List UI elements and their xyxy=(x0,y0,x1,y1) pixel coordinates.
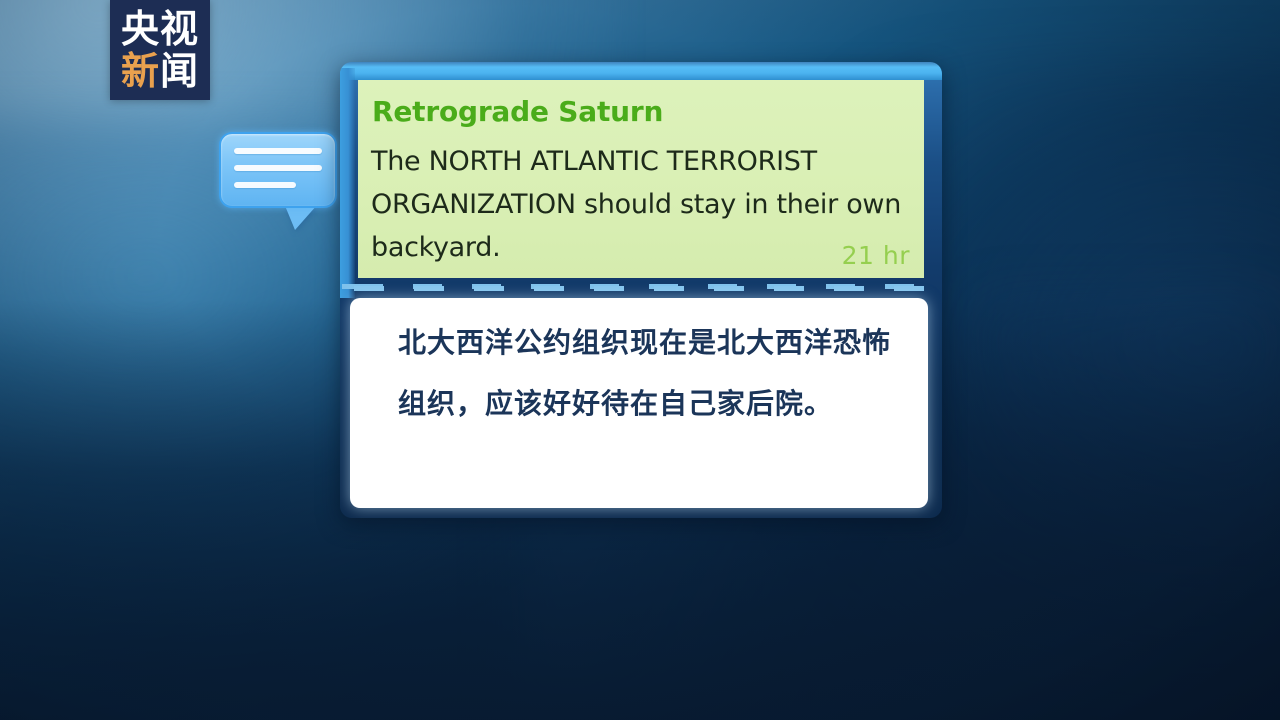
dashed-divider-dashes xyxy=(354,286,936,291)
tweet-body-text: The NORTH ATLANTIC TERRORIST ORGANIZATIO… xyxy=(371,140,911,269)
tweet-panel: Retrograde Saturn The NORTH ATLANTIC TER… xyxy=(358,80,924,278)
speech-bubble-icon xyxy=(219,132,339,236)
translation-panel: 北大西洋公约组织现在是北大西洋恐怖组织，应该好好待在自己家后院。 xyxy=(350,298,928,508)
speech-bubble-body xyxy=(219,132,337,208)
logo-char-xin: 新 xyxy=(121,52,160,90)
cctv-news-logo: 央视 新 闻 xyxy=(110,0,210,100)
card-top-highlight xyxy=(340,62,942,80)
speech-bubble-line-2 xyxy=(234,165,322,171)
translation-text: 北大西洋公约组织现在是北大西洋恐怖组织，应该好好待在自己家后院。 xyxy=(398,312,898,434)
tweet-author-name: Retrograde Saturn xyxy=(372,95,663,128)
tweet-timestamp: 21 hr xyxy=(842,241,910,270)
screenshot-stage: 央视 新 闻 Retrograde Saturn The NORTH ATLAN… xyxy=(0,0,1280,720)
logo-line-top: 央视 xyxy=(121,10,199,48)
dashed-divider xyxy=(340,284,942,293)
tweet-card: Retrograde Saturn The NORTH ATLANTIC TER… xyxy=(340,62,942,518)
logo-char-wen: 闻 xyxy=(160,52,199,90)
card-left-highlight xyxy=(340,68,355,298)
speech-bubble-line-1 xyxy=(234,148,322,154)
speech-bubble-line-3 xyxy=(234,182,296,188)
logo-line-bottom: 新 闻 xyxy=(121,52,199,90)
